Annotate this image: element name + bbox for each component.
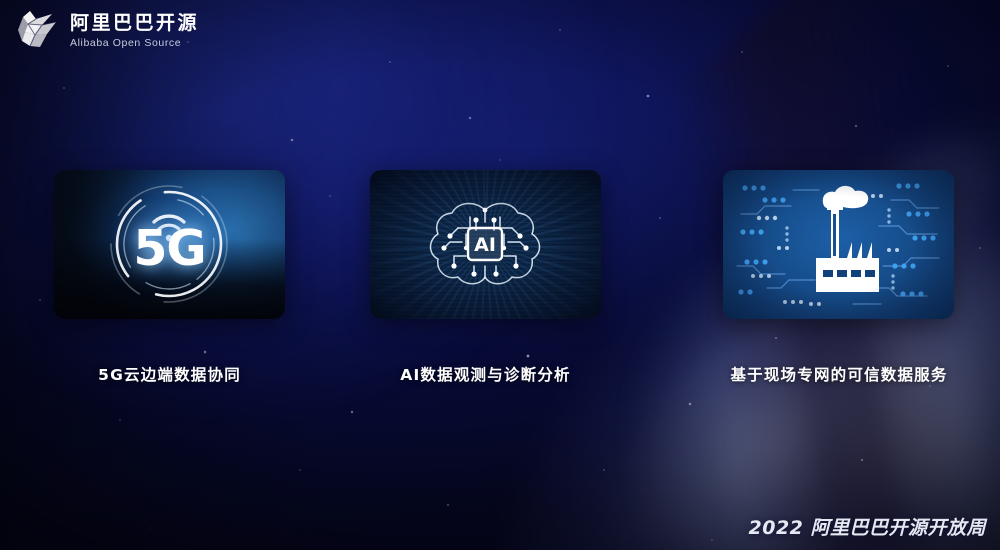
brand-logo-text: 阿里巴巴开源 Alibaba Open Source (70, 14, 199, 49)
brand-logo: 阿里巴巴开源 Alibaba Open Source (16, 8, 199, 54)
card-caption-5g: 5G云边端数据协同 (54, 363, 285, 385)
card-5g-label: 5G (54, 219, 285, 276)
card-caption-ai: AI数据观测与诊断分析 (370, 363, 601, 385)
alibaba-open-source-logo-icon (16, 8, 60, 54)
card-factory[interactable] (723, 170, 954, 319)
card-factory-vignette (723, 170, 954, 319)
footer-watermark: 2022 阿里巴巴开源开放周 (749, 513, 987, 540)
card-caption-factory: 基于现场专网的可信数据服务 (700, 363, 978, 385)
card-ai-vignette (370, 170, 601, 319)
slide-canvas: 阿里巴巴开源 Alibaba Open Source 5G (0, 0, 1000, 550)
brand-name-en: Alibaba Open Source (70, 38, 199, 49)
card-ai[interactable]: AI (370, 170, 601, 319)
card-5g[interactable]: 5G (54, 170, 285, 319)
brand-name-cn: 阿里巴巴开源 (70, 14, 199, 33)
